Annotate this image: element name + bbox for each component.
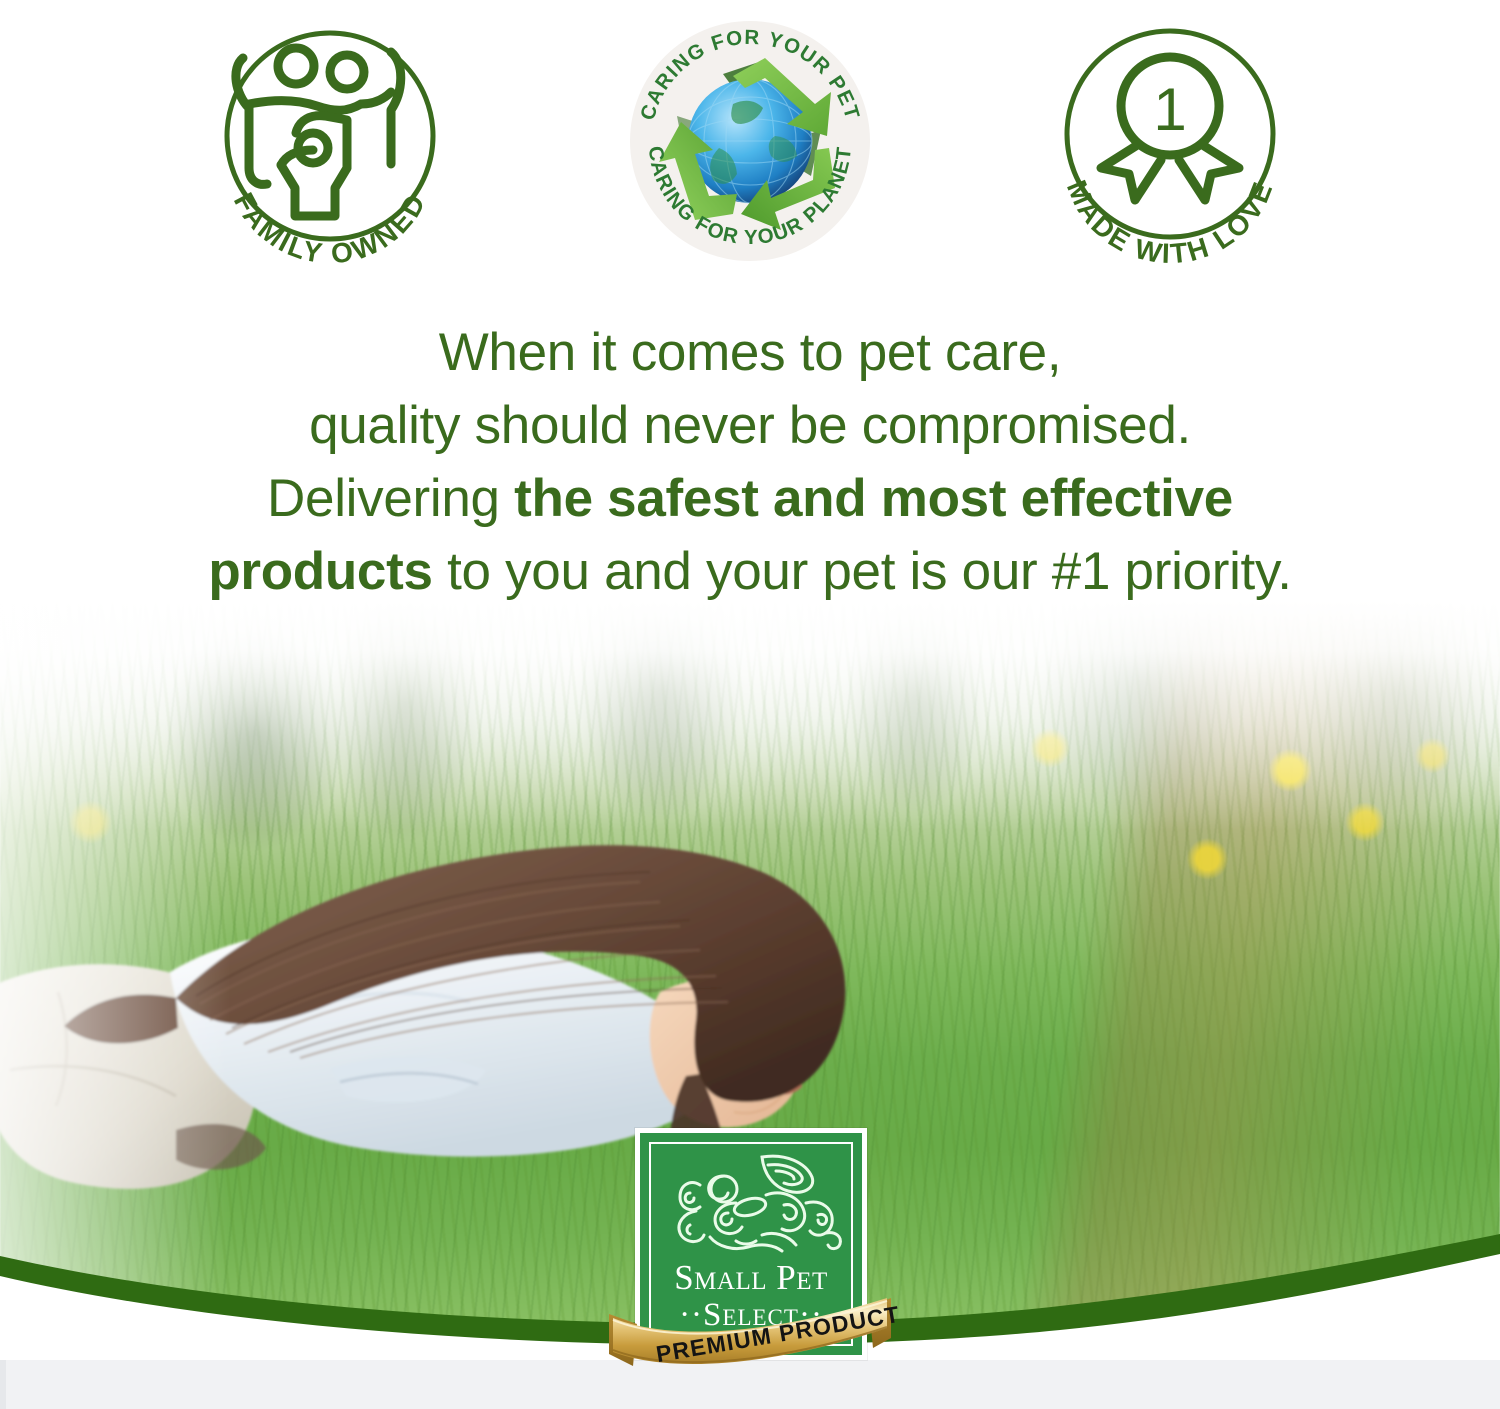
family-icon [236,48,401,216]
badge-label: FAMILY OWNED [228,187,433,269]
headline-line-1: When it comes to pet care, [0,316,1500,389]
photo-left-fade [0,600,230,1340]
logo-brand-line-1: Small Pet [640,1259,862,1297]
promo-image: FAMILY OWNED [0,0,1500,1409]
headline-line-2: quality should never be compromised. [0,389,1500,462]
swirl-rabbit-icon [666,1149,846,1261]
headline-text: When it comes to pet care, [439,323,1062,382]
badge-label: MADE WITH LOVE [1061,176,1279,270]
headline-line-3: Delivering the safest and most effective [0,462,1500,535]
trust-badge-row: FAMILY OWNED [0,0,1500,300]
badge-caring-recycle: CARING FOR YOUR PET CARING FOR YOUR PLAN… [615,8,885,278]
badge-rank-number: 1 [1153,76,1186,143]
headline: When it comes to pet care, quality shoul… [0,316,1500,608]
badge-made-with-love: 1 MADE WITH LOVE [1035,8,1305,278]
headline-text-bold: the safest and most effective [514,469,1233,528]
headline-text-bold: products [208,542,432,601]
family-owned-badge-graphic: FAMILY OWNED [195,8,465,278]
made-with-love-badge-graphic: 1 MADE WITH LOVE [1035,8,1305,278]
headline-text: Delivering [267,469,514,528]
recycle-badge-graphic: CARING FOR YOUR PET CARING FOR YOUR PLAN… [615,8,885,278]
headline-line-4: products to you and your pet is our #1 p… [0,535,1500,608]
badge-family-owned: FAMILY OWNED [195,8,465,278]
headline-text: quality should never be compromised. [309,396,1191,455]
brand-logo-badge: Small Pet ··Select·· [617,1128,883,1386]
headline-text: to you and your pet is our #1 priority. [433,542,1292,601]
